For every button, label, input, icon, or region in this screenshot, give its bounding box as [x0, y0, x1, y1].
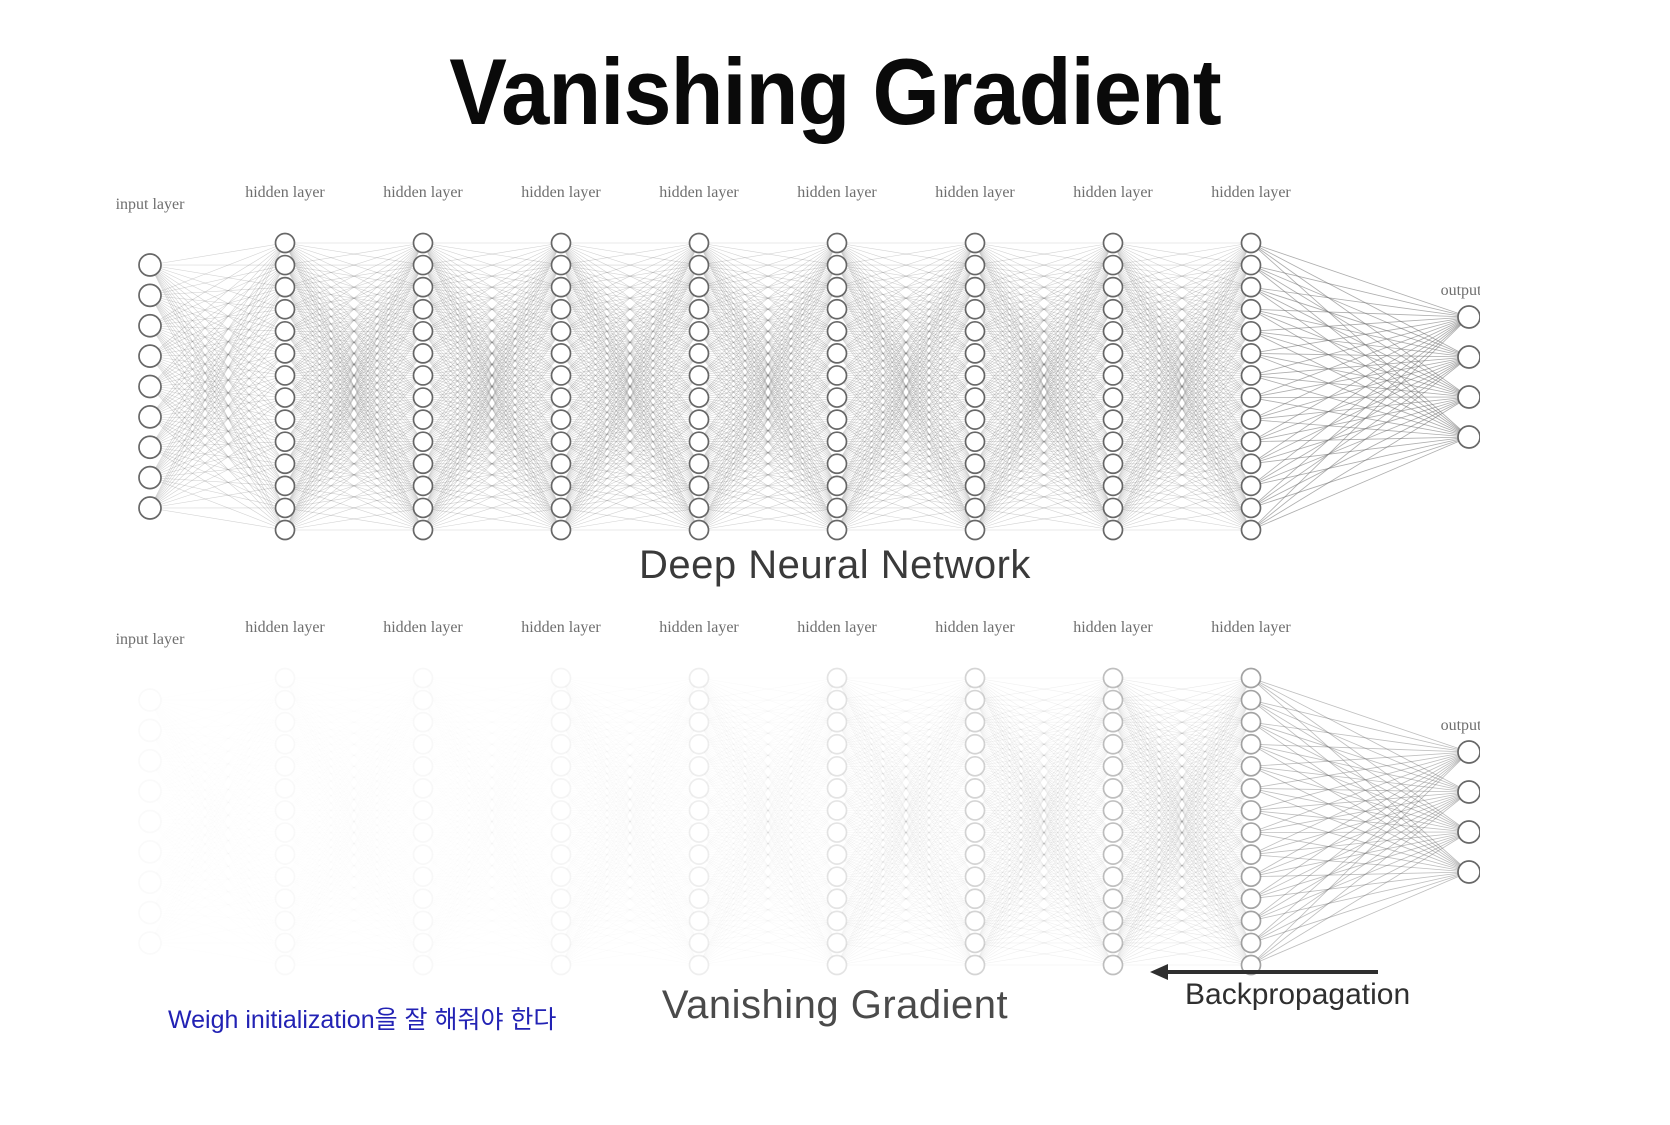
- hidden-layer-4-node: [690, 322, 709, 341]
- hidden-layer-5-node: [828, 889, 847, 908]
- hidden-layer-8-node: [1242, 889, 1261, 908]
- hidden-layer-1-node: [276, 933, 295, 952]
- hidden-layer-2-node: [414, 867, 433, 886]
- hidden-layer-1-node: [276, 691, 295, 710]
- hidden-layer-7-node: [1104, 344, 1123, 363]
- hidden-layer-4-node: [690, 521, 709, 540]
- hidden-layer-4-node: [690, 911, 709, 930]
- input-layer-node: [139, 719, 161, 741]
- hidden-layer-5-node: [828, 388, 847, 407]
- hidden-layer-2-node: [414, 498, 433, 517]
- hidden-layer-8-node: [1242, 669, 1261, 688]
- hidden-layer-1-node: [276, 498, 295, 517]
- hidden-layer-5-node: [828, 234, 847, 253]
- input-layer-node: [139, 254, 161, 276]
- hidden-layer-2-node: [414, 691, 433, 710]
- hidden-layer-6-node: [966, 845, 985, 864]
- hidden-layer-4-node: [690, 779, 709, 798]
- diagram-vanishing-gradient: input layerhidden layerhidden layerhidde…: [80, 620, 1480, 980]
- hidden-layer-3-node: [552, 234, 571, 253]
- hidden-layer-8-node: [1242, 366, 1261, 385]
- hidden-layer-4-node: [690, 845, 709, 864]
- hidden-layer-7-node: [1104, 256, 1123, 275]
- hidden-layer-7-node: [1104, 713, 1123, 732]
- hidden-layer-7-node: [1104, 476, 1123, 495]
- hidden-layer-5-node: [828, 956, 847, 975]
- hidden-layer-2-node: [414, 521, 433, 540]
- input-layer-node: [139, 902, 161, 924]
- hidden-layer-2-node: [414, 476, 433, 495]
- hidden-layer-6-node: [966, 410, 985, 429]
- hidden-layer-label-2: hidden layer: [383, 185, 463, 201]
- hidden-layer-6-node: [966, 889, 985, 908]
- hidden-layer-4-node: [690, 933, 709, 952]
- output-layer-node: [1458, 426, 1480, 448]
- hidden-layer-2-node: [414, 845, 433, 864]
- hidden-layer-7-node: [1104, 779, 1123, 798]
- hidden-layer-5-node: [828, 498, 847, 517]
- hidden-layer-4-node: [690, 344, 709, 363]
- hidden-layer-4-node: [690, 388, 709, 407]
- network-edges: [150, 243, 1469, 530]
- hidden-layer-4-node: [690, 278, 709, 297]
- hidden-layer-7-node: [1104, 498, 1123, 517]
- hidden-layer-5-node: [828, 911, 847, 930]
- hidden-layer-label-6: hidden layer: [935, 620, 1015, 636]
- hidden-layer-5-node: [828, 867, 847, 886]
- output-layer-node: [1458, 781, 1480, 803]
- input-layer-node: [139, 841, 161, 863]
- input-layer-node: [139, 376, 161, 398]
- hidden-layer-1-node: [276, 956, 295, 975]
- hidden-layer-5-node: [828, 801, 847, 820]
- output-layer-label: output layer: [1441, 717, 1480, 734]
- hidden-layer-3-node: [552, 366, 571, 385]
- hidden-layer-3-node: [552, 757, 571, 776]
- hidden-layer-7-node: [1104, 823, 1123, 842]
- hidden-layer-8-node: [1242, 322, 1261, 341]
- hidden-layer-8-node: [1242, 845, 1261, 864]
- hidden-layer-1-node: [276, 823, 295, 842]
- hidden-layer-4-node: [690, 498, 709, 517]
- hidden-layer-6-node: [966, 779, 985, 798]
- hidden-layer-2-node: [414, 801, 433, 820]
- hidden-layer-5-node: [828, 454, 847, 473]
- hidden-layer-4-node: [690, 889, 709, 908]
- hidden-layer-6-node: [966, 933, 985, 952]
- hidden-layer-5-node: [828, 735, 847, 754]
- hidden-layer-3-node: [552, 410, 571, 429]
- hidden-layer-7-node: [1104, 889, 1123, 908]
- hidden-layer-3-node: [552, 956, 571, 975]
- hidden-layer-2-node: [414, 669, 433, 688]
- hidden-layer-5-node: [828, 432, 847, 451]
- input-layer-label: input layer: [116, 631, 186, 648]
- hidden-layer-6-node: [966, 366, 985, 385]
- hidden-layer-7-node: [1104, 322, 1123, 341]
- hidden-layer-6-node: [966, 234, 985, 253]
- hidden-layer-5-node: [828, 521, 847, 540]
- hidden-layer-8-node: [1242, 521, 1261, 540]
- hidden-layer-3-node: [552, 344, 571, 363]
- hidden-layer-3-node: [552, 801, 571, 820]
- input-layer-node: [139, 467, 161, 489]
- hidden-layer-3-node: [552, 521, 571, 540]
- hidden-layer-3-node: [552, 845, 571, 864]
- hidden-layer-4-node: [690, 956, 709, 975]
- hidden-layer-7-node: [1104, 388, 1123, 407]
- hidden-layer-2-node: [414, 410, 433, 429]
- hidden-layer-5-node: [828, 256, 847, 275]
- hidden-layer-7-node: [1104, 669, 1123, 688]
- hidden-layer-8-node: [1242, 867, 1261, 886]
- hidden-layer-1-node: [276, 432, 295, 451]
- hidden-layer-4-node: [690, 867, 709, 886]
- hidden-layer-5-node: [828, 344, 847, 363]
- hidden-layer-4-node: [690, 757, 709, 776]
- hidden-layer-4-node: [690, 735, 709, 754]
- hidden-layer-2-node: [414, 388, 433, 407]
- input-layer-node: [139, 811, 161, 833]
- hidden-layer-3-node: [552, 735, 571, 754]
- hidden-layer-2-node: [414, 757, 433, 776]
- hidden-layer-1-node: [276, 911, 295, 930]
- hidden-layer-1-node: [276, 735, 295, 754]
- input-layer-node: [139, 689, 161, 711]
- hidden-layer-2-node: [414, 366, 433, 385]
- hidden-layer-7-node: [1104, 521, 1123, 540]
- backpropagation-label: Backpropagation: [1185, 978, 1410, 1012]
- hidden-layer-8-node: [1242, 256, 1261, 275]
- slide-canvas: Vanishing Gradient input layerhidden lay…: [0, 0, 1670, 1125]
- hidden-layer-3-node: [552, 322, 571, 341]
- hidden-layer-7-node: [1104, 432, 1123, 451]
- hidden-layer-2-node: [414, 300, 433, 319]
- hidden-layer-1-node: [276, 713, 295, 732]
- hidden-layer-5-node: [828, 845, 847, 864]
- hidden-layer-6-node: [966, 388, 985, 407]
- hidden-layer-4-node: [690, 801, 709, 820]
- hidden-layer-6-node: [966, 801, 985, 820]
- hidden-layer-6-node: [966, 735, 985, 754]
- annotation-weight-initialization: Weigh initialization을 잘 해줘야 한다: [168, 1000, 556, 1036]
- hidden-layer-6-node: [966, 713, 985, 732]
- hidden-layer-label-4: hidden layer: [659, 620, 739, 636]
- hidden-layer-label-7: hidden layer: [1073, 620, 1153, 636]
- hidden-layer-3-node: [552, 278, 571, 297]
- hidden-layer-3-node: [552, 911, 571, 930]
- hidden-layer-7-node: [1104, 735, 1123, 754]
- hidden-layer-3-node: [552, 933, 571, 952]
- hidden-layer-label-3: hidden layer: [521, 185, 601, 201]
- hidden-layer-1-node: [276, 366, 295, 385]
- hidden-layer-1-node: [276, 845, 295, 864]
- hidden-layer-5-node: [828, 366, 847, 385]
- output-layer-node: [1458, 306, 1480, 328]
- hidden-layer-2-node: [414, 256, 433, 275]
- hidden-layer-1-node: [276, 256, 295, 275]
- hidden-layer-label-5: hidden layer: [797, 620, 877, 636]
- hidden-layer-2-node: [414, 911, 433, 930]
- hidden-layer-4-node: [690, 234, 709, 253]
- input-layer-label: input layer: [116, 196, 186, 213]
- hidden-layer-2-node: [414, 713, 433, 732]
- hidden-layer-7-node: [1104, 300, 1123, 319]
- hidden-layer-1-node: [276, 300, 295, 319]
- hidden-layer-2-node: [414, 823, 433, 842]
- hidden-layer-1-node: [276, 476, 295, 495]
- hidden-layer-7-node: [1104, 234, 1123, 253]
- hidden-layer-6-node: [966, 867, 985, 886]
- hidden-layer-1-node: [276, 669, 295, 688]
- hidden-layer-7-node: [1104, 867, 1123, 886]
- hidden-layer-7-node: [1104, 691, 1123, 710]
- input-layer-node: [139, 284, 161, 306]
- hidden-layer-2-node: [414, 344, 433, 363]
- hidden-layer-2-node: [414, 956, 433, 975]
- hidden-layer-7-node: [1104, 366, 1123, 385]
- hidden-layer-7-node: [1104, 911, 1123, 930]
- hidden-layer-2-node: [414, 278, 433, 297]
- hidden-layer-6-node: [966, 823, 985, 842]
- hidden-layer-1-node: [276, 322, 295, 341]
- hidden-layer-6-node: [966, 322, 985, 341]
- hidden-layer-6-node: [966, 256, 985, 275]
- input-layer-node: [139, 871, 161, 893]
- hidden-layer-label-6: hidden layer: [935, 185, 1015, 201]
- hidden-layer-4-node: [690, 691, 709, 710]
- hidden-layer-6-node: [966, 300, 985, 319]
- hidden-layer-8-node: [1242, 454, 1261, 473]
- hidden-layer-8-node: [1242, 911, 1261, 930]
- hidden-layer-6-node: [966, 757, 985, 776]
- hidden-layer-6-node: [966, 476, 985, 495]
- hidden-layer-3-node: [552, 432, 571, 451]
- input-layer-node: [139, 932, 161, 954]
- hidden-layer-7-node: [1104, 933, 1123, 952]
- hidden-layer-6-node: [966, 956, 985, 975]
- hidden-layer-1-node: [276, 278, 295, 297]
- hidden-layer-2-node: [414, 735, 433, 754]
- hidden-layer-3-node: [552, 669, 571, 688]
- hidden-layer-label-1: hidden layer: [245, 185, 325, 201]
- hidden-layer-8-node: [1242, 779, 1261, 798]
- hidden-layer-8-node: [1242, 757, 1261, 776]
- hidden-layer-8-node: [1242, 713, 1261, 732]
- hidden-layer-1-node: [276, 779, 295, 798]
- hidden-layer-7-node: [1104, 801, 1123, 820]
- hidden-layer-label-7: hidden layer: [1073, 185, 1153, 201]
- hidden-layer-5-node: [828, 669, 847, 688]
- hidden-layer-8-node: [1242, 344, 1261, 363]
- hidden-layer-4-node: [690, 823, 709, 842]
- hidden-layer-4-node: [690, 476, 709, 495]
- input-layer-node: [139, 780, 161, 802]
- hidden-layer-5-node: [828, 300, 847, 319]
- hidden-layer-8-node: [1242, 823, 1261, 842]
- caption-deep-neural-network: Deep Neural Network: [0, 543, 1670, 588]
- hidden-layer-5-node: [828, 410, 847, 429]
- output-layer-node: [1458, 346, 1480, 368]
- hidden-layer-label-5: hidden layer: [797, 185, 877, 201]
- hidden-layer-7-node: [1104, 757, 1123, 776]
- hidden-layer-4-node: [690, 300, 709, 319]
- hidden-layer-1-node: [276, 234, 295, 253]
- hidden-layer-6-node: [966, 669, 985, 688]
- hidden-layer-2-node: [414, 779, 433, 798]
- hidden-layer-8-node: [1242, 432, 1261, 451]
- hidden-layer-3-node: [552, 498, 571, 517]
- hidden-layer-8-node: [1242, 735, 1261, 754]
- hidden-layer-2-node: [414, 234, 433, 253]
- hidden-layer-8-node: [1242, 801, 1261, 820]
- diagram-deep-neural-network: input layerhidden layerhidden layerhidde…: [80, 185, 1480, 545]
- hidden-layer-2-node: [414, 933, 433, 952]
- hidden-layer-4-node: [690, 256, 709, 275]
- hidden-layer-3-node: [552, 476, 571, 495]
- hidden-layer-2-node: [414, 432, 433, 451]
- hidden-layer-8-node: [1242, 476, 1261, 495]
- hidden-layer-5-node: [828, 823, 847, 842]
- hidden-layer-8-node: [1242, 498, 1261, 517]
- hidden-layer-3-node: [552, 388, 571, 407]
- hidden-layer-1-node: [276, 388, 295, 407]
- input-layer-node: [139, 345, 161, 367]
- hidden-layer-5-node: [828, 779, 847, 798]
- output-layer-node: [1458, 821, 1480, 843]
- output-layer-node: [1458, 386, 1480, 408]
- hidden-layer-2-node: [414, 454, 433, 473]
- hidden-layer-1-node: [276, 801, 295, 820]
- hidden-layer-8-node: [1242, 691, 1261, 710]
- hidden-layer-3-node: [552, 779, 571, 798]
- hidden-layer-label-2: hidden layer: [383, 620, 463, 636]
- hidden-layer-7-node: [1104, 410, 1123, 429]
- hidden-layer-label-1: hidden layer: [245, 620, 325, 636]
- input-layer-node: [139, 315, 161, 337]
- hidden-layer-3-node: [552, 691, 571, 710]
- hidden-layer-6-node: [966, 521, 985, 540]
- hidden-layer-2-node: [414, 322, 433, 341]
- hidden-layer-7-node: [1104, 278, 1123, 297]
- hidden-layer-8-node: [1242, 278, 1261, 297]
- input-layer-node: [139, 406, 161, 428]
- hidden-layer-1-node: [276, 889, 295, 908]
- hidden-layer-label-8: hidden layer: [1211, 620, 1291, 636]
- output-layer-node: [1458, 741, 1480, 763]
- hidden-layer-4-node: [690, 366, 709, 385]
- input-layer-node: [139, 436, 161, 458]
- hidden-layer-label-4: hidden layer: [659, 185, 739, 201]
- hidden-layer-8-node: [1242, 234, 1261, 253]
- hidden-layer-1-node: [276, 757, 295, 776]
- page-title: Vanishing Gradient: [67, 38, 1603, 146]
- hidden-layer-8-node: [1242, 300, 1261, 319]
- hidden-layer-7-node: [1104, 845, 1123, 864]
- hidden-layer-label-3: hidden layer: [521, 620, 601, 636]
- hidden-layer-4-node: [690, 432, 709, 451]
- hidden-layer-3-node: [552, 867, 571, 886]
- hidden-layer-3-node: [552, 454, 571, 473]
- hidden-layer-4-node: [690, 410, 709, 429]
- hidden-layer-2-node: [414, 889, 433, 908]
- input-layer-node: [139, 750, 161, 772]
- hidden-layer-5-node: [828, 713, 847, 732]
- hidden-layer-6-node: [966, 911, 985, 930]
- hidden-layer-1-node: [276, 344, 295, 363]
- hidden-layer-8-node: [1242, 410, 1261, 429]
- hidden-layer-5-node: [828, 757, 847, 776]
- output-layer-label: output layer: [1441, 282, 1480, 299]
- hidden-layer-3-node: [552, 300, 571, 319]
- hidden-layer-5-node: [828, 933, 847, 952]
- output-layer-node: [1458, 861, 1480, 883]
- hidden-layer-5-node: [828, 322, 847, 341]
- network-edges: [150, 678, 1469, 965]
- hidden-layer-7-node: [1104, 956, 1123, 975]
- hidden-layer-8-node: [1242, 388, 1261, 407]
- hidden-layer-1-node: [276, 410, 295, 429]
- hidden-layer-1-node: [276, 521, 295, 540]
- hidden-layer-8-node: [1242, 933, 1261, 952]
- hidden-layer-6-node: [966, 498, 985, 517]
- hidden-layer-6-node: [966, 344, 985, 363]
- hidden-layer-4-node: [690, 713, 709, 732]
- hidden-layer-3-node: [552, 713, 571, 732]
- hidden-layer-3-node: [552, 256, 571, 275]
- hidden-layer-4-node: [690, 454, 709, 473]
- hidden-layer-6-node: [966, 278, 985, 297]
- hidden-layer-3-node: [552, 889, 571, 908]
- hidden-layer-1-node: [276, 867, 295, 886]
- hidden-layer-5-node: [828, 476, 847, 495]
- hidden-layer-4-node: [690, 669, 709, 688]
- hidden-layer-5-node: [828, 691, 847, 710]
- hidden-layer-3-node: [552, 823, 571, 842]
- hidden-layer-5-node: [828, 278, 847, 297]
- input-layer-node: [139, 497, 161, 519]
- hidden-layer-6-node: [966, 454, 985, 473]
- hidden-layer-6-node: [966, 691, 985, 710]
- hidden-layer-7-node: [1104, 454, 1123, 473]
- hidden-layer-6-node: [966, 432, 985, 451]
- hidden-layer-1-node: [276, 454, 295, 473]
- hidden-layer-label-8: hidden layer: [1211, 185, 1291, 201]
